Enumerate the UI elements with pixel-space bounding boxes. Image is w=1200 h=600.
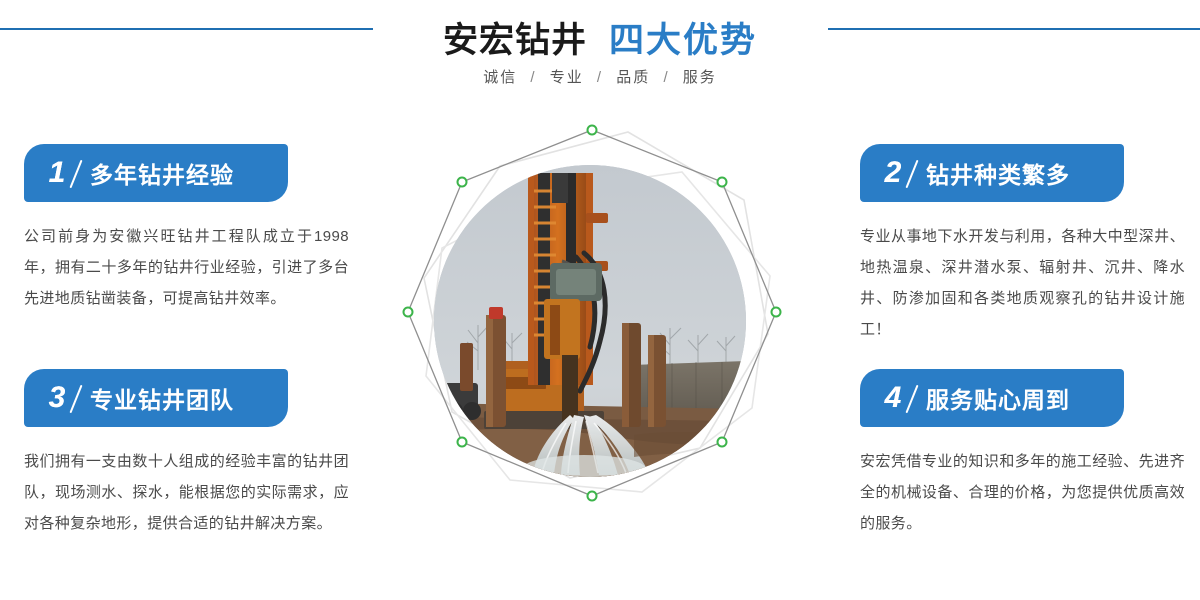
feature-block-2: 2 钻井种类繁多 专业从事地下水开发与利用，各种大中型深井、地热温泉、深井潜水泵…: [860, 144, 1190, 360]
feature-badge-1[interactable]: 1 多年钻井经验: [24, 144, 288, 202]
page-header: 安宏钻井四大优势 诚信 / 专业 / 品质 / 服务: [0, 0, 1200, 110]
feature-number-2: 2: [876, 158, 910, 188]
center-graphic: [370, 108, 814, 560]
subtitle-item-3: 品质: [616, 69, 650, 86]
drilling-rig-photo: [434, 165, 746, 477]
subtitle-separator-2: /: [597, 69, 603, 86]
feature-block-4: 4 服务贴心周到 安宏凭借专业的知识和多年的施工经验、先进齐全的机械设备、合理的…: [860, 369, 1190, 554]
feature-badge-4[interactable]: 4 服务贴心周到: [860, 369, 1124, 427]
feature-number-4: 4: [876, 383, 910, 413]
subtitle-item-2: 专业: [550, 69, 584, 86]
subtitle-item-4: 服务: [683, 69, 717, 86]
feature-badge-2[interactable]: 2 钻井种类繁多: [860, 144, 1124, 202]
title-accent: 四大优势: [609, 21, 757, 60]
feature-title-4: 服务贴心周到: [926, 381, 1070, 415]
vertex-marker-left: [404, 308, 413, 317]
feature-badge-3[interactable]: 3 专业钻井团队: [24, 369, 288, 427]
title-company: 安宏钻井: [443, 21, 587, 60]
feature-text-4: 安宏凭借专业的知识和多年的施工经验、先进齐全的机械设备、合理的价格，为您提供优质…: [860, 446, 1185, 539]
feature-block-3: 3 专业钻井团队 我们拥有一支由数十人组成的经验丰富的钻井团队，现场测水、探水，…: [24, 369, 354, 554]
feature-number-3: 3: [40, 383, 74, 413]
feature-text-3: 我们拥有一支由数十人组成的经验丰富的钻井团队，现场测水、探水，能根据您的实际需求…: [24, 446, 349, 539]
feature-text-1: 公司前身为安徽兴旺钻井工程队成立于1998年，拥有二十多年的钻井行业经验，引进了…: [24, 221, 349, 314]
vertex-marker-top: [588, 126, 597, 135]
feature-block-1: 1 多年钻井经验 公司前身为安徽兴旺钻井工程队成立于1998年，拥有二十多年的钻…: [24, 144, 354, 329]
vertex-marker-right: [772, 308, 781, 317]
page-title: 安宏钻井四大优势: [0, 12, 1200, 63]
feature-number-1: 1: [40, 158, 74, 188]
vertex-marker-bottom: [588, 492, 597, 501]
subtitle-separator-1: /: [530, 69, 536, 86]
subtitle-item-1: 诚信: [483, 69, 517, 86]
feature-title-2: 钻井种类繁多: [926, 156, 1070, 190]
subtitle-separator-3: /: [663, 69, 669, 86]
feature-text-2: 专业从事地下水开发与利用，各种大中型深井、地热温泉、深井潜水泵、辐射井、沉井、降…: [860, 221, 1185, 345]
promo-page: 安宏钻井四大优势 诚信 / 专业 / 品质 / 服务 1 多年钻井经验 公司前身…: [0, 0, 1200, 600]
feature-title-3: 专业钻井团队: [90, 381, 234, 415]
drilling-rig-illustration: [434, 165, 746, 477]
feature-title-1: 多年钻井经验: [90, 156, 234, 190]
subtitle: 诚信 / 专业 / 品质 / 服务: [0, 66, 1200, 87]
